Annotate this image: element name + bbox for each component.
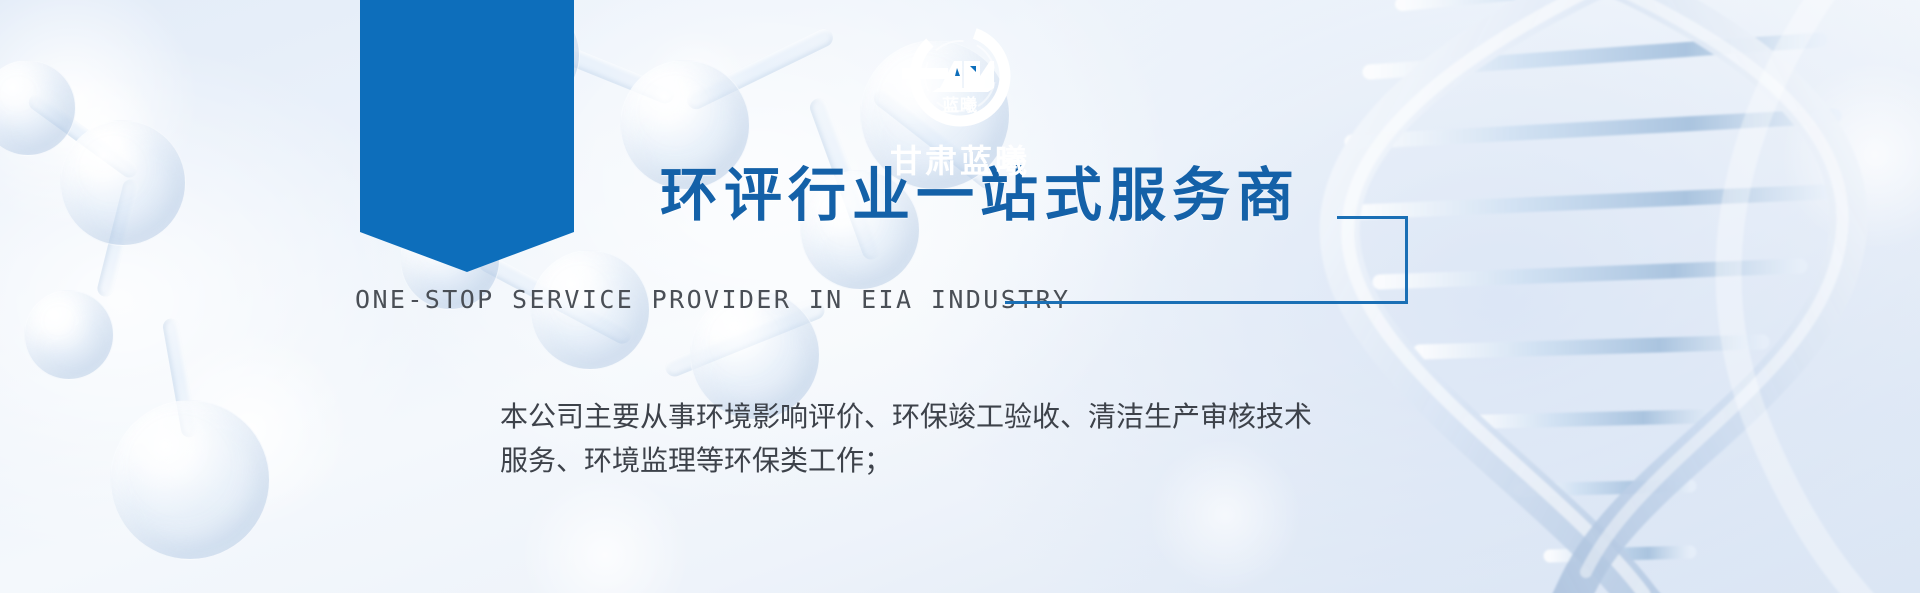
- page-subtitle-en: ONE-STOP SERVICE PROVIDER IN EIA INDUSTR…: [355, 285, 1071, 314]
- bracket-rule-vertical: [1405, 216, 1408, 304]
- bracket-rule-bottom: [1005, 301, 1408, 304]
- bracket-rule-top: [1337, 216, 1408, 219]
- description-line-2: 服务、环境监理等环保类工作；: [500, 439, 1430, 483]
- molecule-atom: [110, 400, 270, 560]
- hero-banner: 蓝曦 甘肃蓝曦 环评行业一站式服务商 ONE-STOP SERVICE PROV…: [0, 0, 1920, 593]
- lanxi-logo-icon: 蓝曦: [902, 18, 1018, 134]
- svg-text:蓝曦: 蓝曦: [942, 95, 978, 116]
- molecule-atom: [24, 290, 114, 380]
- description-line-1: 本公司主要从事环境影响评价、环保竣工验收、清洁生产审核技术: [500, 395, 1430, 439]
- company-description: 本公司主要从事环境影响评价、环保竣工验收、清洁生产审核技术 服务、环境监理等环保…: [500, 395, 1430, 483]
- ribbon-company-name: 甘肃蓝曦: [0, 136, 1920, 182]
